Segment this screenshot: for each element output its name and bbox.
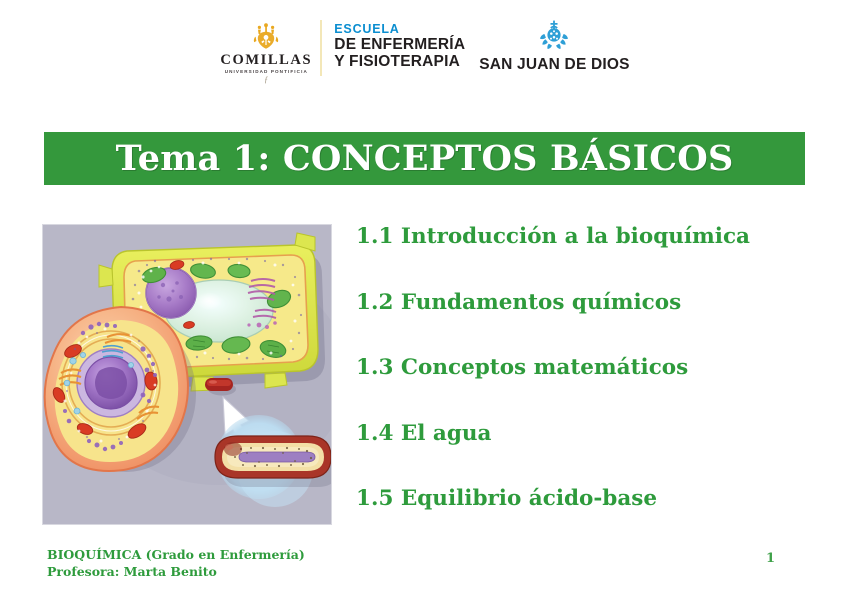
san-juan-de-dios-wordmark: SAN JUAN DE DIOS	[479, 57, 629, 73]
contents-list: 1.1 Introducción a la bioquímica 1.2 Fun…	[356, 226, 826, 510]
page-title: Tema 1: CONCEPTOS BÁSICOS	[116, 141, 734, 176]
escuela-line-2: DE ENFERMERÍA	[334, 36, 465, 53]
toc-item-1-4[interactable]: 1.4 El agua	[356, 423, 826, 445]
logo-divider	[320, 20, 322, 76]
escuela-logo: ESCUELA DE ENFERMERÍA Y FISIOTERAPIA	[334, 22, 465, 71]
footer-professor: Profesora: Marta Benito	[47, 564, 305, 581]
cell-types-diagram	[42, 224, 332, 525]
toc-item-1-5[interactable]: 1.5 Equilibrio ácido-base	[356, 488, 826, 510]
comillas-crest-icon	[249, 22, 283, 52]
pomegranate-cross-icon	[538, 20, 570, 54]
comillas-wordmark: COMILLAS	[220, 53, 312, 68]
san-juan-de-dios-logo: SAN JUAN DE DIOS	[479, 20, 629, 73]
footer-course-name: BIOQUÍMICA (Grado en Enfermería)	[47, 547, 305, 564]
escuela-line-3: Y FISIOTERAPIA	[334, 53, 460, 70]
toc-item-1-1[interactable]: 1.1 Introducción a la bioquímica	[356, 226, 826, 248]
footer-course-info: BIOQUÍMICA (Grado en Enfermería) Profeso…	[47, 547, 305, 581]
comillas-logo: COMILLAS UNIVERSIDAD PONTIFICIA ƒ	[218, 22, 314, 84]
toc-item-1-3[interactable]: 1.3 Conceptos matemáticos	[356, 357, 826, 379]
comillas-subtitle: UNIVERSIDAD PONTIFICIA	[225, 70, 308, 75]
escuela-line-1: ESCUELA	[334, 22, 399, 36]
header-logo-bar: COMILLAS UNIVERSIDAD PONTIFICIA ƒ ESCUEL…	[0, 18, 848, 86]
toc-item-1-2[interactable]: 1.2 Fundamentos químicos	[356, 292, 826, 314]
comillas-flourish: ƒ	[264, 76, 268, 84]
page-number: 1	[766, 552, 775, 565]
title-banner: Tema 1: CONCEPTOS BÁSICOS	[44, 132, 805, 185]
